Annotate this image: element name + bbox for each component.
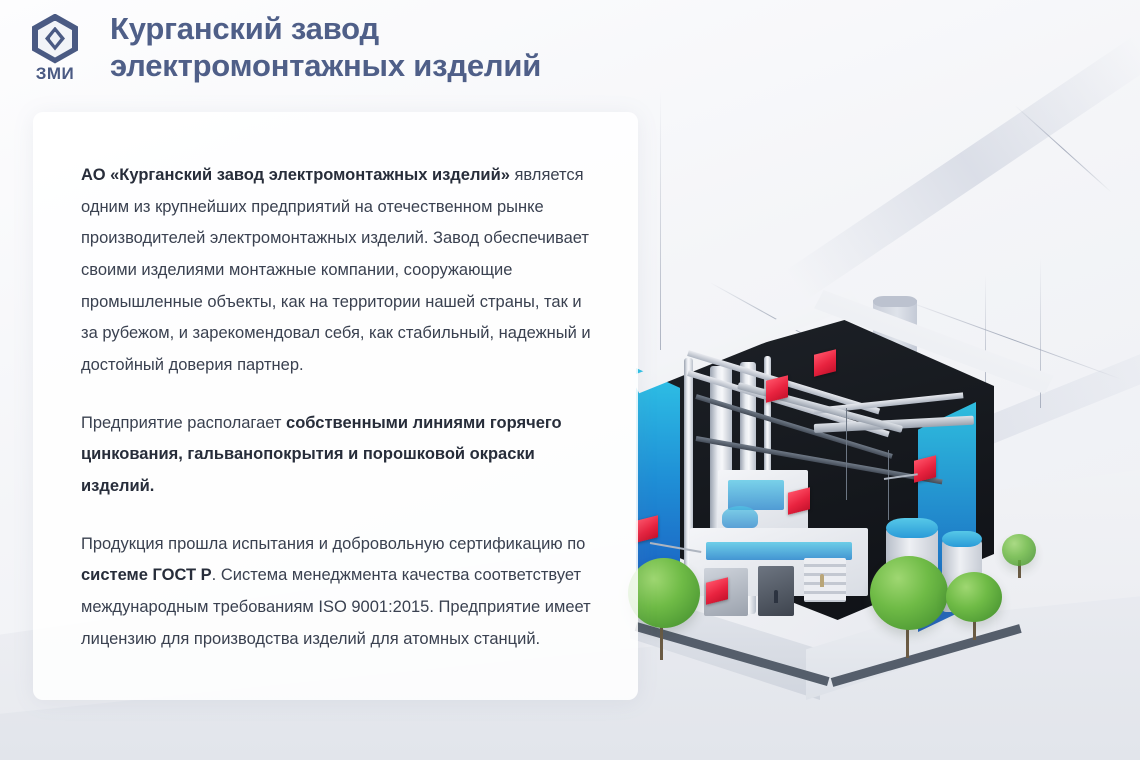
- company-logo[interactable]: ЗМИ: [24, 14, 86, 82]
- paragraph-production-lines: Предприятие располагает собственными лин…: [81, 408, 594, 503]
- page-header: ЗМИ Курганский завод электромонтажных из…: [0, 0, 1140, 95]
- page-title-line-2: электромонтажных изделий: [110, 48, 541, 85]
- tree-2: [870, 556, 948, 630]
- paragraph-company-overview: АО «Курганский завод электромонтажных из…: [81, 160, 594, 382]
- production-lines-prefix: Предприятие располагает: [81, 414, 286, 432]
- ceiling-hanger-2: [888, 450, 889, 520]
- tree-1: [628, 558, 700, 628]
- factory-illustration: [618, 290, 1088, 710]
- page-title: Курганский завод электромонтажных издели…: [110, 11, 541, 84]
- logo-abbreviation: ЗМИ: [24, 65, 86, 82]
- machine-rack-shelves: [804, 558, 846, 602]
- paragraph-certification: Продукция прошла испытания и добровольну…: [81, 529, 594, 656]
- person-figure-2: [820, 574, 824, 587]
- certification-standard: системе ГОСТ Р: [81, 566, 212, 584]
- certification-prefix: Продукция прошла испытания и добровольну…: [81, 535, 585, 553]
- process-tank-1-top: [886, 518, 938, 538]
- company-legal-name: АО «Курганский завод электромонтажных из…: [81, 166, 510, 184]
- company-overview-text: является одним из крупнейших предприятий…: [81, 166, 591, 374]
- ceiling-hanger-1: [846, 408, 847, 500]
- slide-root: ЗМИ Курганский завод электромонтажных из…: [0, 0, 1140, 760]
- process-tank-2-top: [942, 531, 982, 547]
- machine-hopper: [722, 506, 758, 528]
- tree-4: [1002, 534, 1036, 566]
- person-figure-1: [774, 590, 778, 603]
- description-card: АО «Курганский завод электромонтажных из…: [33, 112, 638, 700]
- page-title-line-1: Курганский завод: [110, 11, 541, 48]
- tree-3: [946, 572, 1002, 622]
